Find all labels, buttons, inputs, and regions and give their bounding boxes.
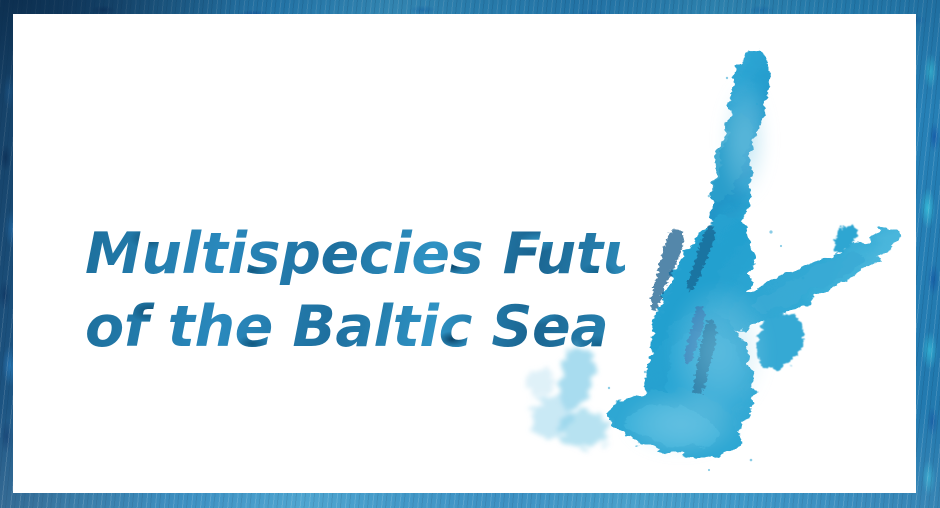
finland-inlet	[834, 225, 857, 252]
gulf-of-bothnia	[711, 50, 770, 233]
gulf-of-riga	[757, 314, 804, 369]
poster-title: Multispecies Futures of the Baltic Sea	[85, 218, 625, 364]
southern-baltic	[609, 390, 741, 458]
title-line-1: Multispecies Futures	[85, 218, 625, 291]
poster-card: Multispecies Futures of the Baltic Sea	[13, 14, 916, 493]
poster: Multispecies Futures of the Baltic Sea	[0, 0, 940, 508]
ink-vein-central	[685, 306, 717, 416]
gulf-of-finland	[729, 229, 898, 331]
baltic-proper	[647, 312, 754, 449]
title-line-2: of the Baltic Sea	[85, 291, 625, 364]
